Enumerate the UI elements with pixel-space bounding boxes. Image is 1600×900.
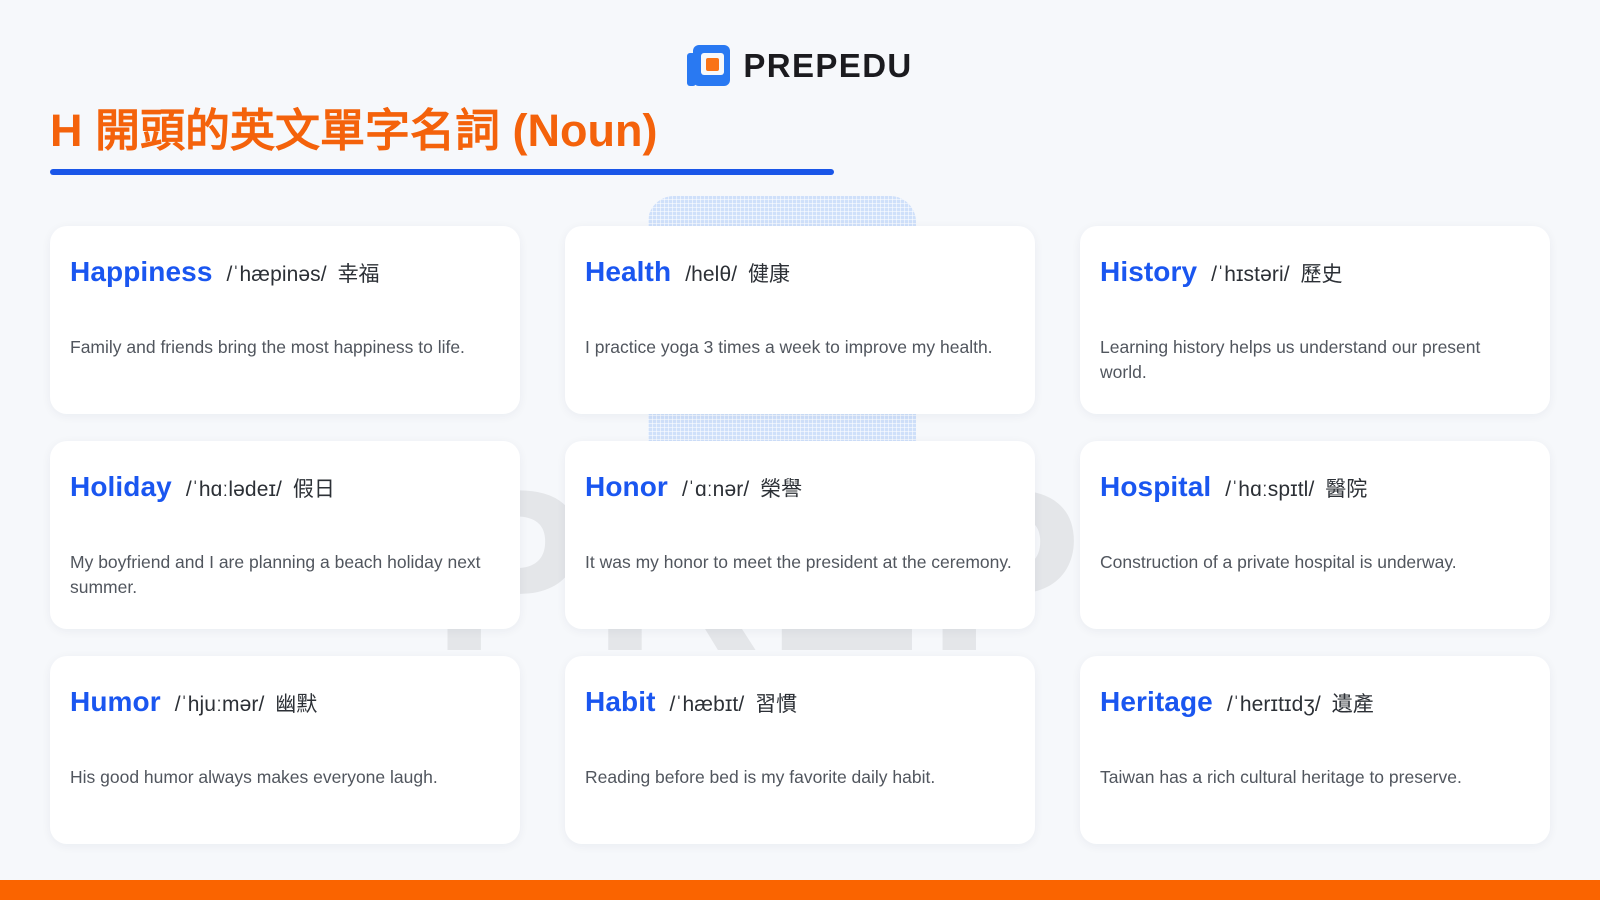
example-sentence: Learning history helps us understand our… bbox=[1100, 335, 1530, 385]
vocabulary-card: Health /helθ/ 健康 I practice yoga 3 times… bbox=[565, 226, 1035, 414]
vocabulary-card: Holiday /ˈhɑːlədeɪ/ 假日 My boyfriend and … bbox=[50, 441, 520, 629]
bottom-accent-bar bbox=[0, 880, 1600, 900]
word-meta: /ˈhɑːlədeɪ/ 假日 bbox=[186, 473, 335, 503]
vocabulary-word: Humor bbox=[70, 686, 161, 718]
ipa-pronunciation: /ˈhæbɪt/ bbox=[670, 693, 745, 716]
word-meta: /ˈhjuːmər/ 幽默 bbox=[175, 688, 318, 718]
card-headline: Happiness /ˈhæpinəs/ 幸福 bbox=[70, 256, 500, 288]
vocabulary-card: Happiness /ˈhæpinəs/ 幸福 Family and frien… bbox=[50, 226, 520, 414]
prepedu-p-logo-icon bbox=[687, 45, 730, 86]
chinese-translation: 醫院 bbox=[1325, 478, 1367, 501]
example-sentence: Taiwan has a rich cultural heritage to p… bbox=[1100, 765, 1530, 790]
ipa-pronunciation: /ˈhɑːspɪtl/ bbox=[1225, 478, 1314, 501]
vocabulary-word: Health bbox=[585, 256, 671, 288]
vocabulary-word: History bbox=[1100, 256, 1197, 288]
brand-name: PREPEDU bbox=[743, 47, 912, 85]
vocabulary-card: History /ˈhɪstəri/ 歷史 Learning history h… bbox=[1080, 226, 1550, 414]
card-headline: Holiday /ˈhɑːlədeɪ/ 假日 bbox=[70, 471, 500, 503]
card-headline: Hospital /ˈhɑːspɪtl/ 醫院 bbox=[1100, 471, 1530, 503]
vocabulary-card: Habit /ˈhæbɪt/ 習慣 Reading before bed is … bbox=[565, 656, 1035, 844]
card-headline: History /ˈhɪstəri/ 歷史 bbox=[1100, 256, 1530, 288]
page-title: H 開頭的英文單字名詞 (Noun) bbox=[50, 104, 834, 157]
word-meta: /helθ/ 健康 bbox=[685, 258, 790, 288]
card-headline: Health /helθ/ 健康 bbox=[585, 256, 1015, 288]
ipa-pronunciation: /ˈhæpinəs/ bbox=[227, 263, 327, 286]
word-meta: /ˈhæpinəs/ 幸福 bbox=[227, 258, 380, 288]
chinese-translation: 幸福 bbox=[338, 263, 380, 286]
card-headline: Heritage /ˈherɪtɪdʒ/ 遺產 bbox=[1100, 686, 1530, 718]
vocabulary-word: Holiday bbox=[70, 471, 172, 503]
ipa-pronunciation: /ˈhɪstəri/ bbox=[1211, 263, 1290, 286]
word-meta: /ˈɑːnər/ 榮譽 bbox=[682, 473, 802, 503]
example-sentence: My boyfriend and I are planning a beach … bbox=[70, 550, 500, 600]
word-meta: /ˈherɪtɪdʒ/ 遺產 bbox=[1227, 688, 1374, 718]
vocabulary-word: Honor bbox=[585, 471, 668, 503]
chinese-translation: 習慣 bbox=[755, 693, 797, 716]
card-headline: Honor /ˈɑːnər/ 榮譽 bbox=[585, 471, 1015, 503]
vocabulary-card: Humor /ˈhjuːmər/ 幽默 His good humor alway… bbox=[50, 656, 520, 844]
vocabulary-word: Heritage bbox=[1100, 686, 1213, 718]
chinese-translation: 遺產 bbox=[1332, 693, 1374, 716]
chinese-translation: 假日 bbox=[293, 478, 335, 501]
card-headline: Habit /ˈhæbɪt/ 習慣 bbox=[585, 686, 1015, 718]
chinese-translation: 榮譽 bbox=[760, 478, 802, 501]
example-sentence: His good humor always makes everyone lau… bbox=[70, 765, 500, 790]
example-sentence: Family and friends bring the most happin… bbox=[70, 335, 500, 360]
card-headline: Humor /ˈhjuːmər/ 幽默 bbox=[70, 686, 500, 718]
word-meta: /ˈhɪstəri/ 歷史 bbox=[1211, 258, 1342, 288]
example-sentence: I practice yoga 3 times a week to improv… bbox=[585, 335, 1015, 360]
chinese-translation: 幽默 bbox=[275, 693, 317, 716]
chinese-translation: 健康 bbox=[748, 263, 790, 286]
ipa-pronunciation: /ˈɑːnər/ bbox=[682, 478, 749, 501]
example-sentence: It was my honor to meet the president at… bbox=[585, 550, 1015, 575]
ipa-pronunciation: /ˈherɪtɪdʒ/ bbox=[1227, 693, 1321, 716]
vocabulary-word: Habit bbox=[585, 686, 656, 718]
word-meta: /ˈhɑːspɪtl/ 醫院 bbox=[1225, 473, 1367, 503]
logo-stem bbox=[687, 53, 696, 86]
ipa-pronunciation: /ˈhjuːmər/ bbox=[175, 693, 265, 716]
example-sentence: Reading before bed is my favorite daily … bbox=[585, 765, 1015, 790]
word-meta: /ˈhæbɪt/ 習慣 bbox=[670, 688, 798, 718]
vocabulary-card: Hospital /ˈhɑːspɪtl/ 醫院 Construction of … bbox=[1080, 441, 1550, 629]
vocabulary-word: Happiness bbox=[70, 256, 213, 288]
vocabulary-card: Honor /ˈɑːnər/ 榮譽 It was my honor to mee… bbox=[565, 441, 1035, 629]
example-sentence: Construction of a private hospital is un… bbox=[1100, 550, 1530, 575]
logo-dot bbox=[706, 58, 719, 71]
chinese-translation: 歷史 bbox=[1301, 263, 1343, 286]
title-underline-rule bbox=[50, 169, 834, 175]
brand-header: PREPEDU bbox=[0, 45, 1600, 86]
vocabulary-word: Hospital bbox=[1100, 471, 1211, 503]
vocabulary-card: Heritage /ˈherɪtɪdʒ/ 遺產 Taiwan has a ric… bbox=[1080, 656, 1550, 844]
ipa-pronunciation: /helθ/ bbox=[685, 263, 737, 286]
title-block: H 開頭的英文單字名詞 (Noun) bbox=[50, 104, 834, 175]
vocabulary-card-grid: Happiness /ˈhæpinəs/ 幸福 Family and frien… bbox=[50, 226, 1550, 844]
ipa-pronunciation: /ˈhɑːlədeɪ/ bbox=[186, 478, 282, 501]
